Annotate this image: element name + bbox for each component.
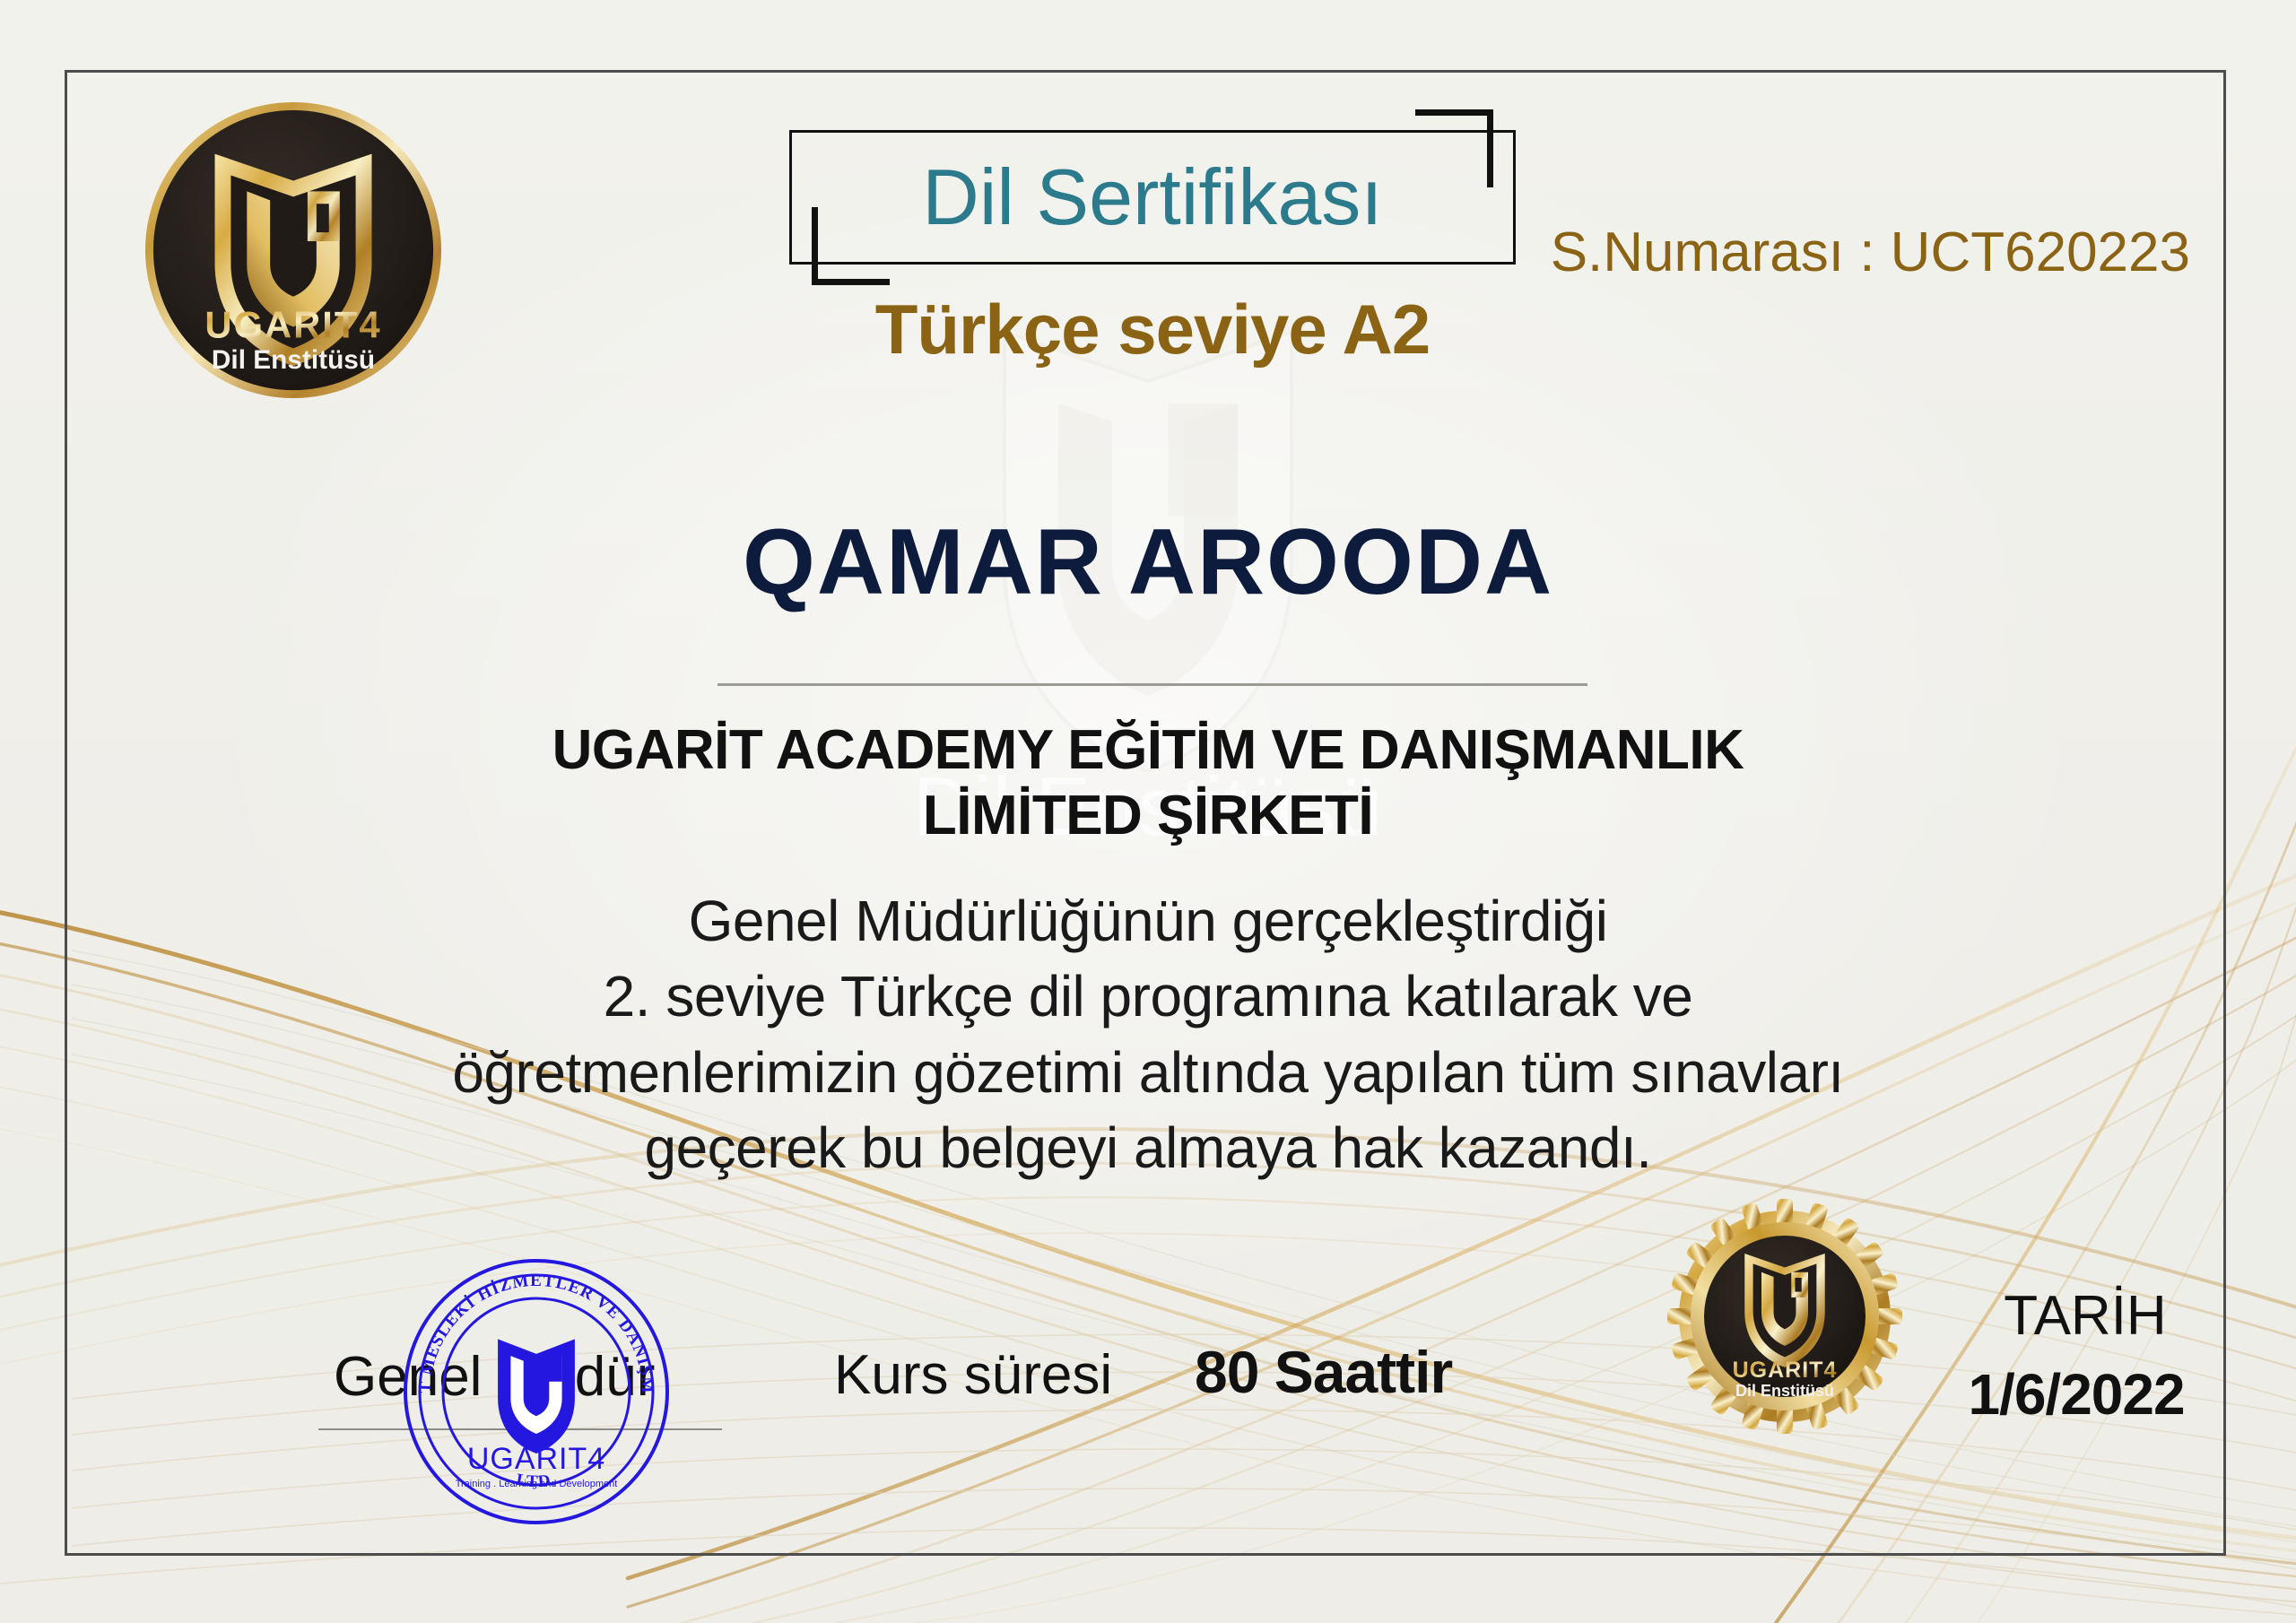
body-line-2: 2. seviye Türkçe dil programına katılara… xyxy=(0,959,2296,1034)
svg-text:Dil Enstitüsü: Dil Enstitüsü xyxy=(1735,1382,1834,1400)
body-line-3: öğretmenlerimizin gözetimi altında yapıl… xyxy=(0,1035,2296,1110)
course-duration-label: Kurs süresi xyxy=(834,1343,1112,1407)
certificate-body-text: Genel Müdürlüğünün gerçekleştirdiği 2. s… xyxy=(0,883,2296,1186)
ugarit-logo: UGARIT4 Dil Enstitüsü xyxy=(142,99,445,402)
date-value: 1/6/2022 xyxy=(1933,1361,2220,1428)
body-line-4: geçerek bu belgeyi almaya hak kazandı. xyxy=(0,1110,2296,1185)
serial-number: S.Numarası : UCT620223 xyxy=(1551,221,2190,284)
corner-bracket-bottom-left-icon xyxy=(812,207,890,285)
date-label: TARİH xyxy=(1960,1284,2211,1348)
name-divider xyxy=(717,683,1587,686)
organization-line-2: LİMİTED ŞİRKETİ xyxy=(0,783,2296,848)
certificate-level: Türkçe seviye A2 xyxy=(789,289,1516,370)
svg-text:UGARIT4: UGARIT4 xyxy=(204,303,381,345)
body-line-1: Genel Müdürlüğünün gerçekleştirdiği xyxy=(0,883,2296,959)
organization-name: UGARİT ACADEMY EĞİTİM VE DANIŞMANLIK LİM… xyxy=(0,717,2296,848)
organization-line-1: UGARİT ACADEMY EĞİTİM VE DANIŞMANLIK xyxy=(0,717,2296,783)
svg-text:Training . Learning and Develo: Training . Learning and Development xyxy=(456,1479,618,1489)
recipient-name: QAMAR AROODA xyxy=(0,509,2296,616)
certificate-title: Dil Sertifikası xyxy=(922,158,1382,237)
blue-company-stamp: UGARİT MESLEKİ HİZMETLER VE DANIŞMANLIK … xyxy=(402,1257,671,1526)
gold-seal-badge: UGARIT4 Dil Enstitüsü xyxy=(1664,1195,1906,1437)
course-duration-value: 80 Saattir xyxy=(1195,1338,1452,1406)
certificate-page: Dil Enstitüsü xyxy=(0,0,2296,1623)
certificate-title-box: Dil Sertifikası xyxy=(789,130,1516,265)
corner-bracket-top-right-icon xyxy=(1415,109,1493,187)
svg-text:UGARIT4: UGARIT4 xyxy=(467,1442,605,1476)
svg-text:Dil Enstitüsü: Dil Enstitüsü xyxy=(212,345,375,375)
svg-text:UGARIT4: UGARIT4 xyxy=(1733,1358,1838,1383)
